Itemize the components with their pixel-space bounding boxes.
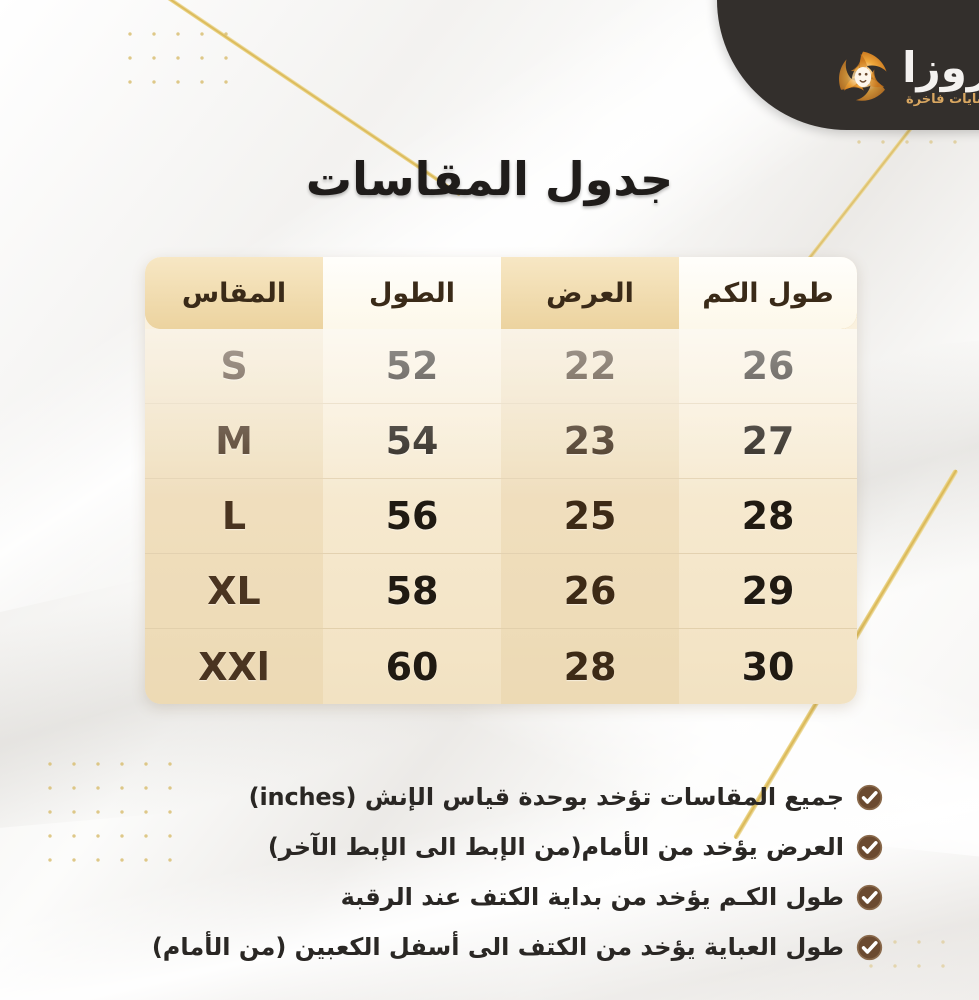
table-row: 27 23 54 M xyxy=(145,404,857,479)
note-item: جميع المقاسات تؤخد بوحدة قياس الإنش (inc… xyxy=(83,772,883,822)
cell-length: 54 xyxy=(323,404,501,478)
table-header-row: طول الكم العرض الطول المقاس xyxy=(145,257,857,329)
column-header-size: المقاس xyxy=(145,257,323,329)
note-text: العرض يؤخد من الأمام(من الإبط الى الإبط … xyxy=(268,833,844,861)
cell-width: 26 xyxy=(501,554,679,628)
brand-lockup: روزا عبايات فاخرة xyxy=(834,47,979,106)
cell-length: 58 xyxy=(323,554,501,628)
cell-width: 22 xyxy=(501,329,679,403)
cell-sleeve: 29 xyxy=(679,554,857,628)
cell-length: 56 xyxy=(323,479,501,553)
check-badge-icon xyxy=(856,934,883,961)
table-row: 30 28 60 XXl xyxy=(145,629,857,704)
column-header-length: الطول xyxy=(323,257,501,329)
dot-grid-top-left xyxy=(118,22,234,96)
cell-size: XXl xyxy=(145,629,323,704)
cell-sleeve: 26 xyxy=(679,329,857,403)
brand-tagline: عبايات فاخرة xyxy=(902,93,979,106)
check-badge-icon xyxy=(856,834,883,861)
note-text: جميع المقاسات تؤخد بوحدة قياس الإنش (inc… xyxy=(249,783,844,811)
cell-sleeve: 30 xyxy=(679,629,857,704)
note-item: طول العباية يؤخد من الكتف الى أسفل الكعب… xyxy=(83,922,883,972)
note-text: طول العباية يؤخد من الكتف الى أسفل الكعب… xyxy=(152,933,844,961)
note-item: طول الكـم يؤخد من بداية الكتف عند الرقبة xyxy=(83,872,883,922)
size-table: طول الكم العرض الطول المقاس 26 22 52 S 2… xyxy=(145,257,857,704)
check-badge-icon xyxy=(856,884,883,911)
check-badge-icon xyxy=(856,784,883,811)
cell-sleeve: 27 xyxy=(679,404,857,478)
size-chart-page: روزا عبايات فاخرة xyxy=(0,0,979,1000)
note-text: طول الكـم يؤخد من بداية الكتف عند الرقبة xyxy=(341,883,844,911)
cell-width: 28 xyxy=(501,629,679,704)
table-body: 26 22 52 S 27 23 54 M 28 25 56 L 29 26 5… xyxy=(145,329,857,704)
notes-list: جميع المقاسات تؤخد بوحدة قياس الإنش (inc… xyxy=(83,772,883,972)
note-item: العرض يؤخد من الأمام(من الإبط الى الإبط … xyxy=(83,822,883,872)
cell-size: M xyxy=(145,404,323,478)
cell-width: 25 xyxy=(501,479,679,553)
page-title: جدول المقاسات xyxy=(0,152,979,206)
cell-width: 23 xyxy=(501,404,679,478)
rose-swirl-icon xyxy=(834,48,892,106)
cell-size: L xyxy=(145,479,323,553)
cell-size: XL xyxy=(145,554,323,628)
brand-text: روزا عبايات فاخرة xyxy=(902,47,979,106)
cell-length: 60 xyxy=(323,629,501,704)
column-header-width: العرض xyxy=(501,257,679,329)
brand-panel: روزا عبايات فاخرة xyxy=(717,0,979,130)
column-header-sleeve: طول الكم xyxy=(679,257,857,329)
cell-size: S xyxy=(145,329,323,403)
cell-sleeve: 28 xyxy=(679,479,857,553)
table-row: 29 26 58 XL xyxy=(145,554,857,629)
cell-length: 52 xyxy=(323,329,501,403)
brand-name: روزا xyxy=(902,47,979,89)
table-row: 26 22 52 S xyxy=(145,329,857,404)
table-row: 28 25 56 L xyxy=(145,479,857,554)
